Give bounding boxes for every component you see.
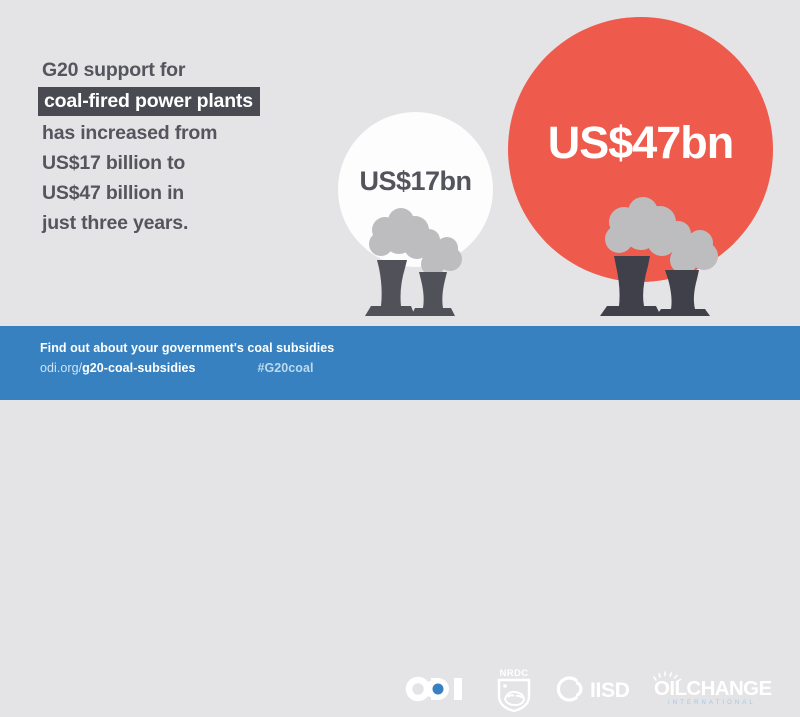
coal-power-plant-icon-large xyxy=(588,200,740,320)
broken-ring-icon xyxy=(558,678,580,700)
headline-row: US$17 billion to xyxy=(42,148,332,178)
oilchange-wordmark: OILCHANGE xyxy=(654,677,772,700)
bubble-label-17bn: US$17bn xyxy=(338,166,493,197)
footer-url-link[interactable]: odi.org/g20-coal-subsidies xyxy=(40,361,196,375)
iisd-logo[interactable]: IISD xyxy=(552,661,648,717)
odi-i-letter xyxy=(454,678,462,700)
headline-block: G20 support for coal-fired power plants … xyxy=(42,55,332,238)
headline-row: has increased from xyxy=(42,118,332,148)
headline-row: G20 support for xyxy=(42,55,332,85)
headline-row: US$47 billion in xyxy=(42,178,332,208)
partner-logos: NRDC xyxy=(400,661,790,717)
footer-url-path: g20-coal-subsidies xyxy=(82,361,195,375)
footer-hashtag[interactable]: #G20coal xyxy=(258,361,314,375)
footer-bar: Find out about your government's coal su… xyxy=(0,326,800,400)
infinity-icon xyxy=(409,680,427,698)
headline-line-2-highlight: coal-fired power plants xyxy=(38,87,260,116)
footer-text-block: Find out about your government's coal su… xyxy=(40,341,334,375)
infographic-canvas: G20 support for coal-fired power plants … xyxy=(0,0,800,400)
iisd-wordmark: IISD xyxy=(590,679,630,702)
footer-subline: odi.org/g20-coal-subsidies #G20coal xyxy=(40,361,334,375)
footer-url-prefix: odi.org/ xyxy=(40,361,82,375)
nrdc-logo[interactable]: NRDC xyxy=(492,661,542,717)
headline-line-6: just three years. xyxy=(42,209,188,238)
headline-line-5: US$47 billion in xyxy=(42,179,184,208)
whale-icon xyxy=(505,692,524,705)
oilchange-logo[interactable]: OILCHANGE INTERNATIONAL xyxy=(652,661,786,717)
odi-logo[interactable] xyxy=(404,661,484,717)
headline-line-3: has increased from xyxy=(42,119,217,148)
oilchange-subtext: INTERNATIONAL xyxy=(668,700,756,706)
bubble-label-47bn: US$47bn xyxy=(508,117,773,169)
headline-row: just three years. xyxy=(42,208,332,238)
headline-line-1: G20 support for xyxy=(42,56,185,85)
headline-line-4: US$17 billion to xyxy=(42,149,185,178)
headline-row-highlighted: coal-fired power plants xyxy=(42,85,332,118)
coal-power-plant-icon-small xyxy=(355,208,475,320)
nrdc-wordmark: NRDC xyxy=(499,668,528,679)
footer-call-to-action: Find out about your government's coal su… xyxy=(40,341,334,355)
